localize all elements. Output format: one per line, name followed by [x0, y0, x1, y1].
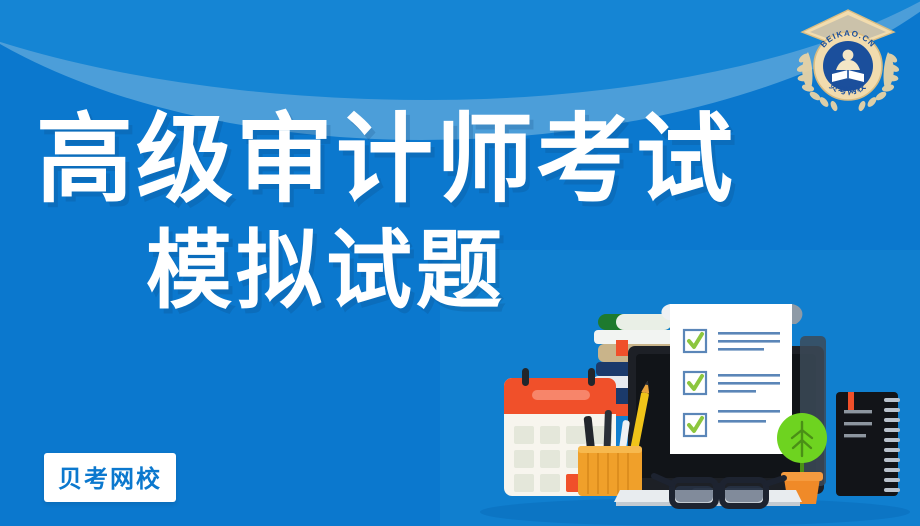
calendar-ring-right — [588, 368, 595, 386]
notebook-bookmark — [848, 392, 854, 410]
headline-block: 高级审计师考试 模拟试题 — [36, 108, 796, 316]
beikao-academy-logo: BEIKAO.CN 贝考网校 — [794, 6, 902, 120]
poster-title-line2: 模拟试题 — [146, 226, 796, 316]
study-desk-illustration — [470, 280, 920, 526]
brand-chip: 贝考网校 — [44, 453, 176, 502]
background-wave-top — [0, 0, 920, 90]
calendar-ring-left — [522, 368, 529, 386]
background-wave-lower — [0, 0, 920, 100]
poster-title-line1: 高级审计师考试 — [36, 108, 796, 212]
poster-canvas: 高级审计师考试 模拟试题 贝考网校 — [0, 0, 920, 526]
spiral-notebook — [836, 392, 900, 496]
